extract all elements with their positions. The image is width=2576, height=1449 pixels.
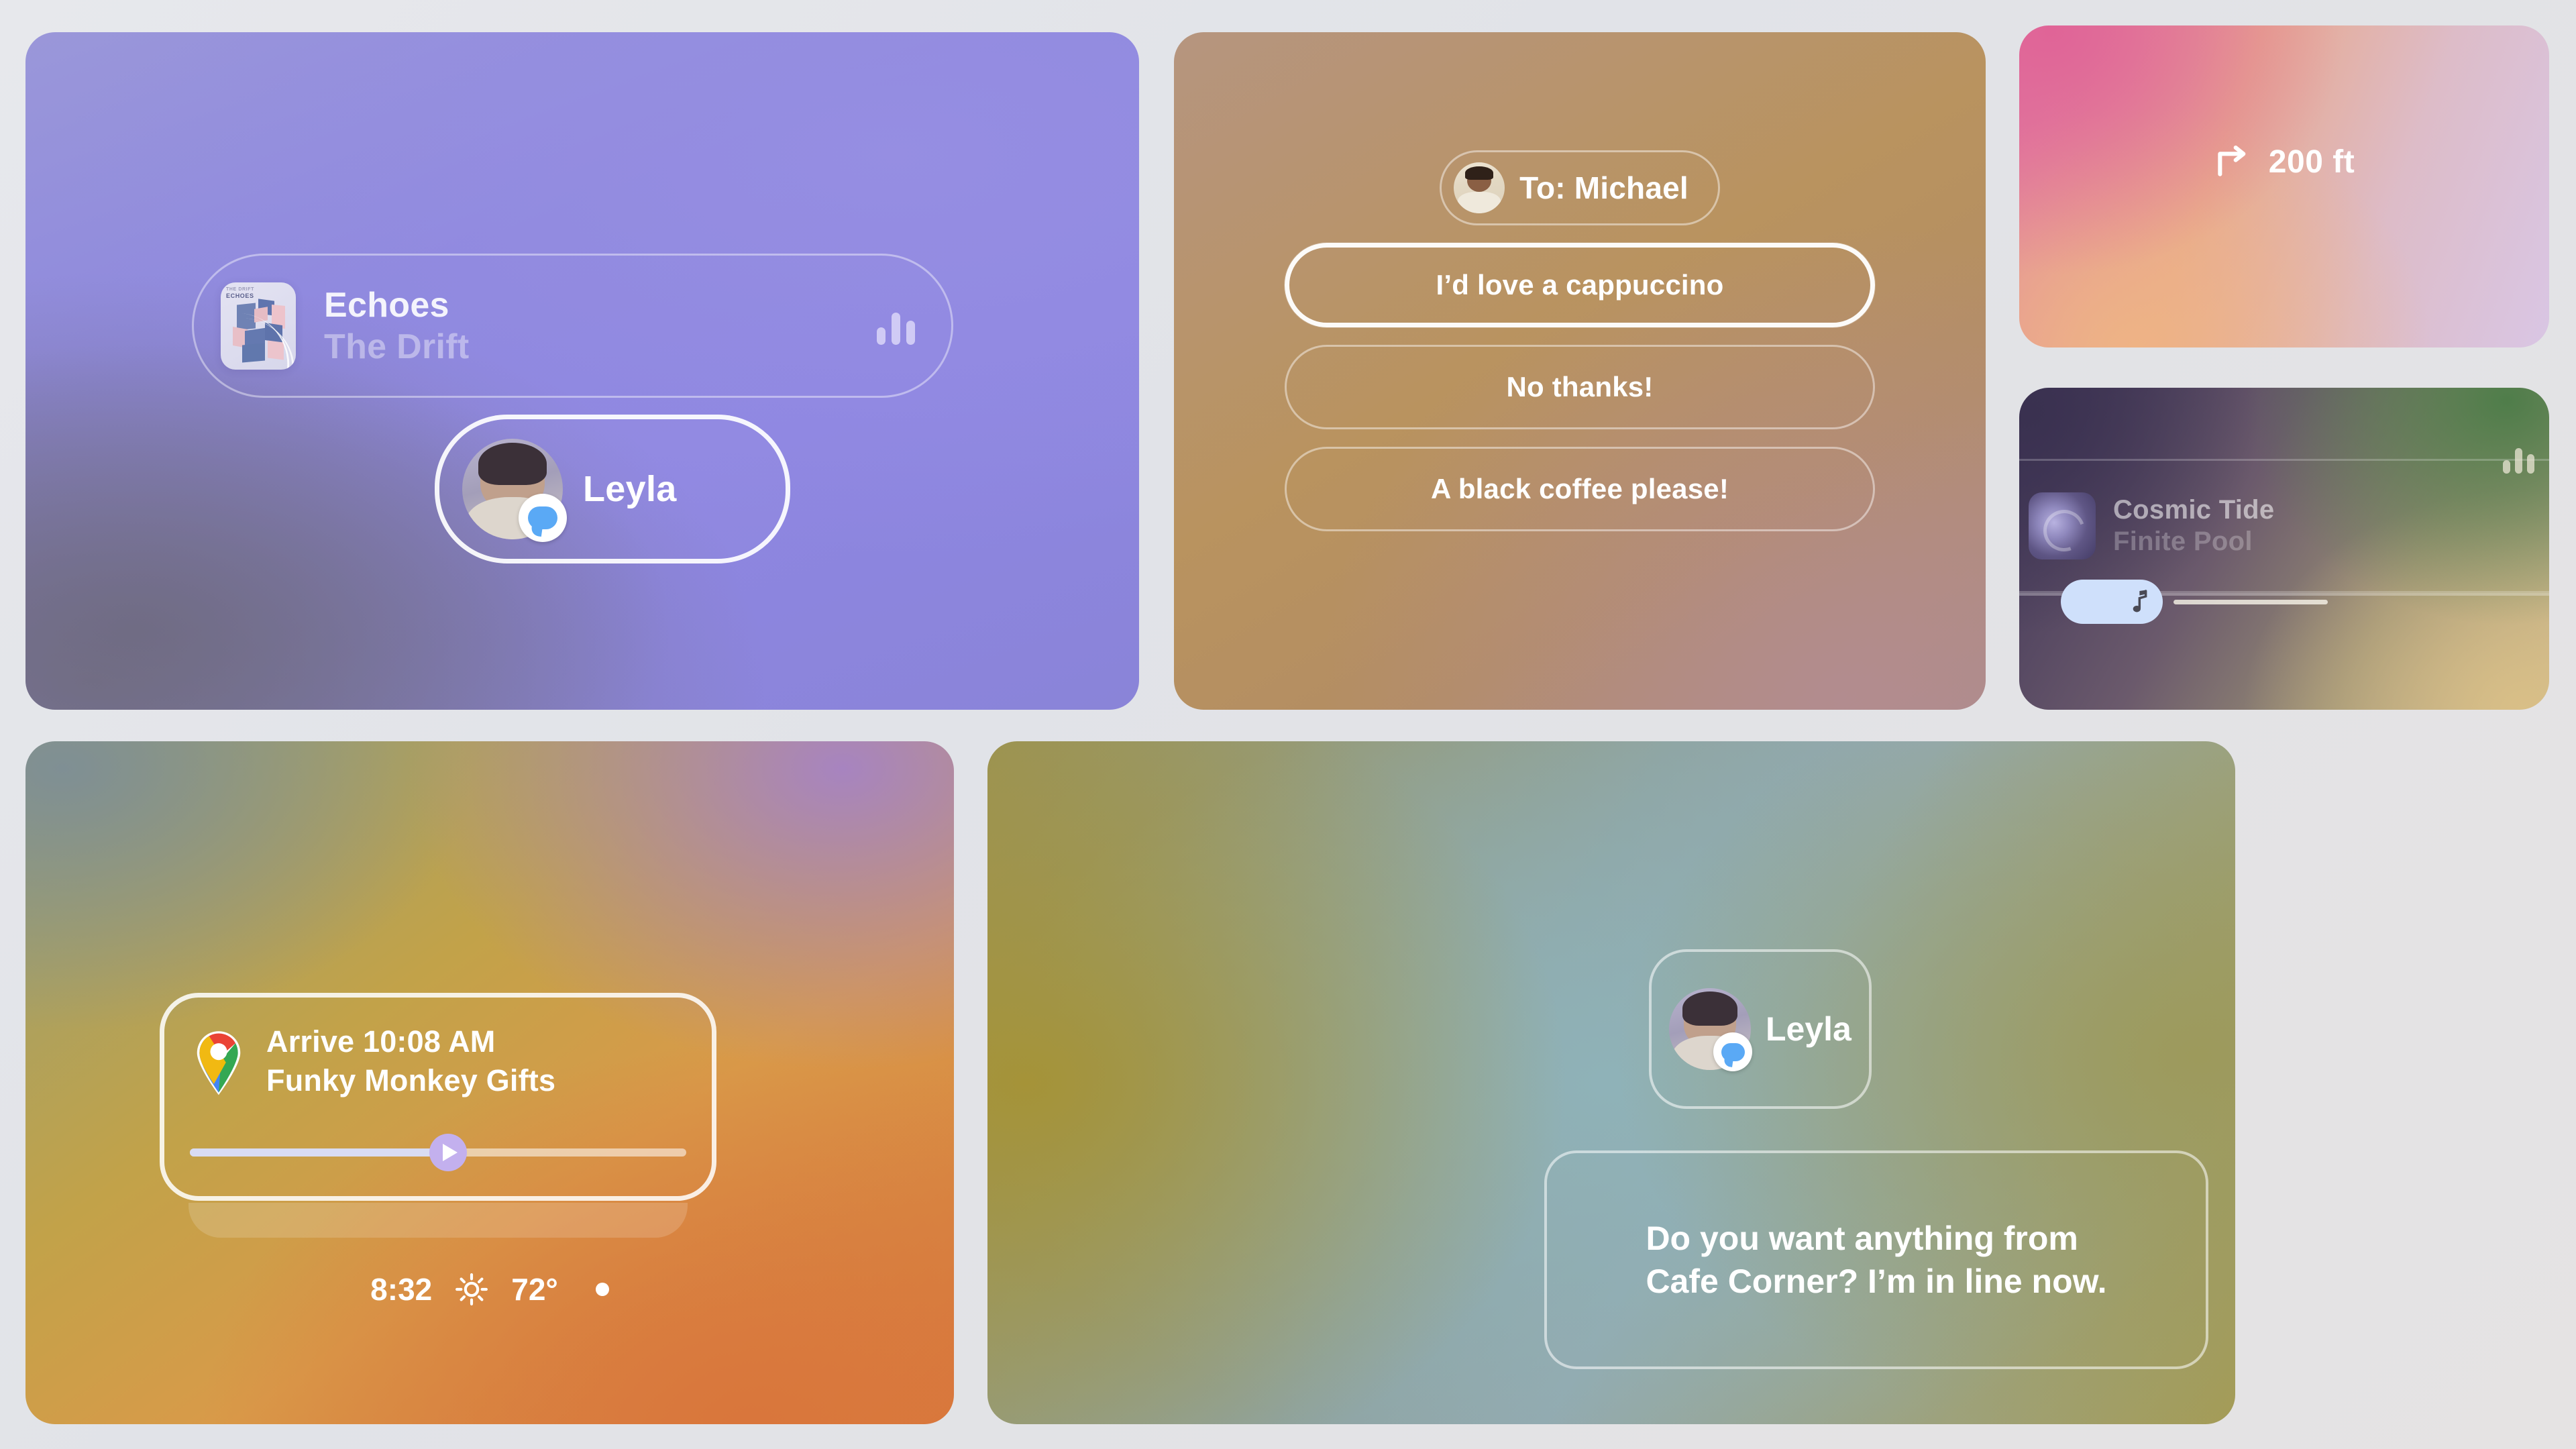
playback-track[interactable] <box>2173 600 2328 604</box>
navigation-distance-label: 200 ft <box>2269 144 2355 180</box>
sun-icon <box>455 1273 488 1306</box>
arrive-text: Arrive 10:08 AM Funky Monkey Gifts <box>266 1024 555 1098</box>
album-art-icon <box>2029 492 2096 559</box>
messages-badge-icon <box>1713 1032 1752 1071</box>
status-dot <box>596 1283 609 1296</box>
status-temperature: 72° <box>511 1271 558 1307</box>
now-playing-card[interactable]: THE DRIFT ECHOES Echoes The Drift Ley <box>25 32 1139 710</box>
route-progress-bar[interactable] <box>190 1148 686 1157</box>
suggestion-option-1[interactable]: I’d love a cappuccino <box>1285 243 1875 327</box>
recipient-label: To: Michael <box>1519 170 1688 206</box>
recipient-pill[interactable]: To: Michael <box>1440 150 1720 225</box>
arrive-panel[interactable]: Arrive 10:08 AM Funky Monkey Gifts <box>160 993 716 1201</box>
arrive-destination: Funky Monkey Gifts <box>266 1063 555 1098</box>
status-time: 8:32 <box>370 1271 432 1307</box>
message-body-line-1: Do you want anything from <box>1646 1220 2078 1257</box>
reply-suggestions-card[interactable]: To: Michael I’d love a cappuccino No tha… <box>1174 32 1986 710</box>
message-body: Do you want anything from Cafe Corner? I… <box>1646 1217 2106 1303</box>
track-artist: Finite Pool <box>2113 527 2274 557</box>
contact-name: Leyla <box>583 468 677 510</box>
now-playing-text: Echoes The Drift <box>324 285 877 367</box>
track-artist: The Drift <box>324 327 877 367</box>
album-art-artist: THE DRIFT <box>226 287 254 293</box>
avatar <box>1669 988 1751 1070</box>
incoming-message-card[interactable]: Leyla Do you want anything from Cafe Cor… <box>987 741 2235 1424</box>
suggestion-option-2[interactable]: No thanks! <box>1285 345 1875 429</box>
track-title: Echoes <box>324 285 877 325</box>
arrive-header: Arrive 10:08 AM Funky Monkey Gifts <box>190 1024 682 1098</box>
navigation-arrow-icon[interactable] <box>429 1134 467 1171</box>
avatar <box>462 439 563 539</box>
navigation-distance-row: 200 ft <box>2214 143 2355 180</box>
message-bubble: Do you want anything from Cafe Corner? I… <box>1544 1150 2208 1369</box>
music-note-icon <box>2128 589 2149 614</box>
album-art-shapes <box>230 300 289 364</box>
turn-right-icon <box>2214 143 2251 180</box>
avatar <box>1454 162 1505 213</box>
route-progress-fill <box>190 1148 448 1157</box>
widget-dashboard: THE DRIFT ECHOES Echoes The Drift Ley <box>0 0 2576 1449</box>
music-shortcut-pill[interactable] <box>2061 580 2163 624</box>
track-title: Cosmic Tide <box>2113 495 2274 525</box>
suggestion-option-3[interactable]: A black coffee please! <box>1285 447 1875 531</box>
navigation-arrive-card[interactable]: Arrive 10:08 AM Funky Monkey Gifts 8:32 … <box>25 741 954 1424</box>
message-sender-name: Leyla <box>1766 1010 1851 1049</box>
secondary-music-card[interactable]: Cosmic Tide Finite Pool <box>2019 388 2549 710</box>
equalizer-icon <box>877 307 915 345</box>
messages-badge-icon <box>519 494 567 542</box>
navigation-distance-card[interactable]: 200 ft <box>2019 25 2549 347</box>
now-playing-pill[interactable]: THE DRIFT ECHOES Echoes The Drift <box>192 254 953 398</box>
maps-pin-icon <box>190 1026 248 1096</box>
equalizer-icon <box>2503 444 2534 474</box>
secondary-track-text: Cosmic Tide Finite Pool <box>2113 495 2274 557</box>
message-sender-pill[interactable]: Leyla <box>1649 949 1872 1109</box>
secondary-now-playing-widget[interactable]: Cosmic Tide Finite Pool <box>2019 459 2549 593</box>
album-art-icon: THE DRIFT ECHOES <box>221 282 296 370</box>
message-body-line-2: Cafe Corner? I’m in line now. <box>1646 1263 2106 1300</box>
status-row: 8:32 72° <box>25 1271 954 1307</box>
contact-leyla-pill[interactable]: Leyla <box>435 415 790 563</box>
arrive-eta: Arrive 10:08 AM <box>266 1024 555 1059</box>
